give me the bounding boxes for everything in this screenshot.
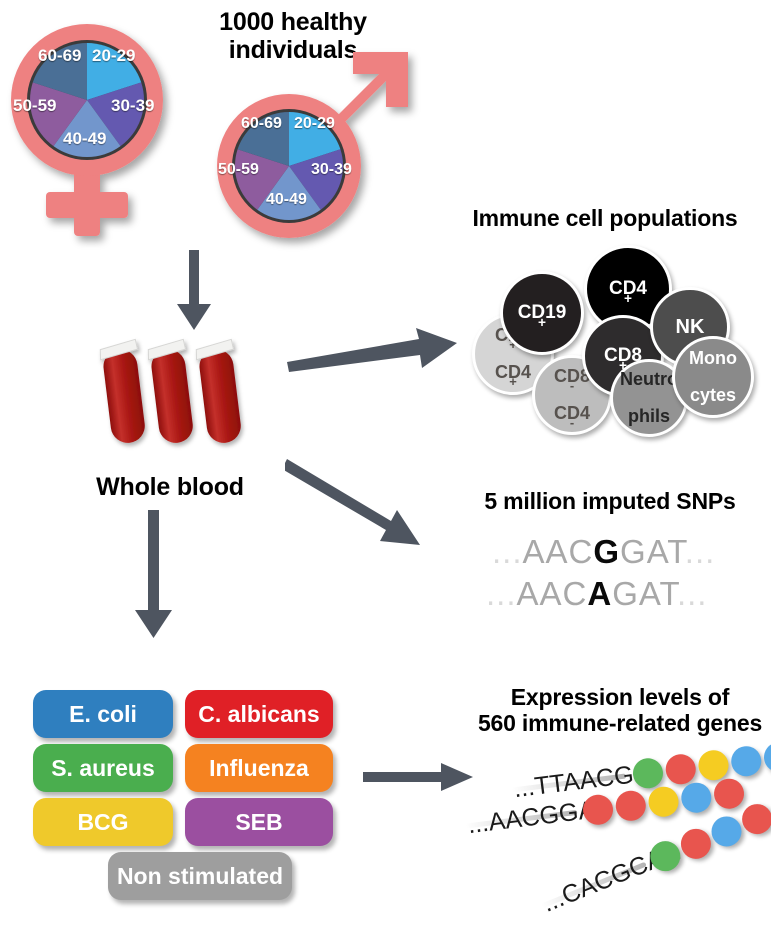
arrow-blood-to-immune-cells: [285, 326, 460, 374]
snp-allele-sequence-2: ...AACAGAT...: [486, 575, 707, 613]
strand-bead: [647, 785, 680, 818]
stimulus-non-stimulated[interactable]: Non stimulated: [108, 852, 292, 900]
stimulus-label: E. coli: [69, 701, 137, 728]
arrow-blood-to-snps: [285, 455, 445, 545]
snp2-suffix: GAT: [612, 575, 677, 612]
cell-label-line2: CD4-: [554, 404, 590, 422]
stimulus-e-coli[interactable]: E. coli: [33, 690, 173, 738]
snps-title: 5 million imputed SNPs: [455, 489, 765, 515]
stimulus-label: C. albicans: [198, 701, 319, 728]
expression-title: Expression levels of 560 immune-related …: [470, 685, 770, 737]
stimulus-label: Non stimulated: [117, 863, 283, 890]
strand-bead: [614, 789, 647, 822]
female-age-pie: [30, 43, 144, 157]
snp1-lead-dots: ...: [492, 533, 523, 570]
stimulus-influenza[interactable]: Influenza: [185, 744, 333, 792]
expression-title-line2: 560 immune-related genes: [470, 711, 770, 737]
snp2-prefix: AAC: [517, 575, 588, 612]
arrow-blood-to-stimuli: [130, 510, 178, 640]
snp2-variant-base: A: [587, 575, 612, 612]
cell-label-line2: CD4+: [495, 363, 531, 381]
cell-label: CD19+: [518, 303, 567, 322]
blood-collection-tubes-icon: [95, 335, 265, 455]
snp1-prefix: AAC: [523, 533, 594, 570]
snp2-lead-dots: ...: [486, 575, 517, 612]
stimulus-label: Influenza: [209, 755, 309, 782]
cell-label: CD4+: [609, 279, 647, 298]
immune-cell-cd19pos[interactable]: CD19+: [500, 271, 584, 355]
stimulus-s-aureus[interactable]: S. aureus: [33, 744, 173, 792]
immune-cell-monocytes[interactable]: Mono cytes: [672, 336, 754, 418]
arrow-cohort-to-blood: [170, 250, 218, 332]
stimulus-label: SEB: [235, 809, 282, 836]
cell-label-line1: Neutro: [620, 370, 678, 388]
snp1-suffix: GAT: [620, 533, 685, 570]
cohort-title-line1: 1000 healthy: [178, 8, 408, 36]
stimulus-label: S. aureus: [51, 755, 155, 782]
female-gender-symbol: 20-29 30-39 40-49 50-59 60-69: [6, 14, 196, 249]
stimulus-bcg[interactable]: BCG: [33, 798, 173, 846]
snp2-trail-dots: ...: [677, 575, 708, 612]
strand-bead: [680, 781, 713, 814]
cell-label-line2: phils: [620, 407, 678, 425]
strand-bead: [730, 745, 763, 778]
whole-blood-label: Whole blood: [60, 473, 280, 501]
male-gender-symbol: 20-29 30-39 40-49 50-59 60-69: [203, 48, 418, 248]
male-age-pie: [235, 112, 343, 220]
snp-allele-sequence-1: ...AACGGAT...: [492, 533, 715, 571]
immune-cell-cluster: CD8+ CD4+ CD19+ CD8- CD4- CD4+ CD8+ NK N…: [472, 243, 762, 403]
strand-bead: [707, 812, 746, 851]
stimulus-label: BCG: [77, 809, 128, 836]
snp1-variant-base: G: [593, 533, 620, 570]
arrow-stimuli-to-expression: [363, 762, 475, 792]
strand-bead: [676, 824, 715, 863]
immune-cell-populations-title: Immune cell populations: [440, 206, 770, 232]
strand-bead: [738, 800, 771, 839]
cell-label-line2: cytes: [689, 386, 737, 404]
cell-label: NK: [676, 317, 705, 337]
snp1-trail-dots: ...: [685, 533, 716, 570]
strand-bead: [762, 741, 771, 774]
stimulus-seb[interactable]: SEB: [185, 798, 333, 846]
expression-title-line1: Expression levels of: [470, 685, 770, 711]
stimulus-c-albicans[interactable]: C. albicans: [185, 690, 333, 738]
cell-label-line1: Mono: [689, 349, 737, 367]
